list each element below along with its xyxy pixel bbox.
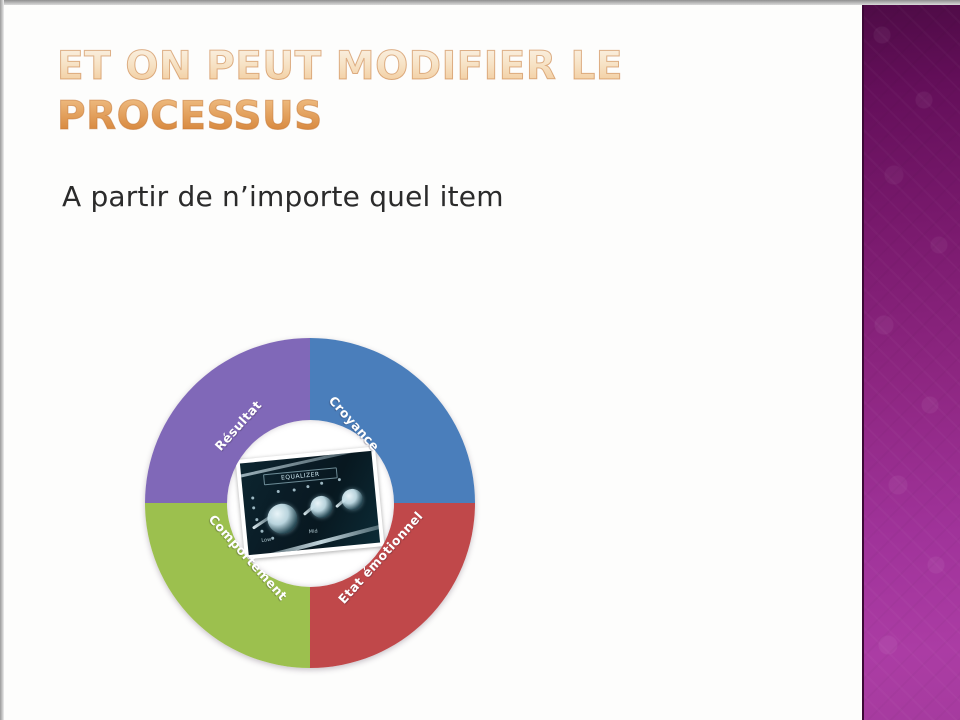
eq-led-icon bbox=[260, 530, 263, 533]
slide-subtitle: A partir de n’importe quel item bbox=[62, 180, 504, 213]
eq-knob-1-icon bbox=[266, 502, 299, 535]
eq-led-icon bbox=[320, 482, 323, 485]
cycle-diagram: EQUALIZER bbox=[145, 338, 475, 668]
eq-led-icon bbox=[338, 478, 341, 481]
equalizer-photo-inner: EQUALIZER bbox=[240, 451, 380, 555]
eq-led-icon bbox=[255, 518, 258, 521]
eq-tick-low: Low bbox=[261, 537, 271, 544]
right-decorative-band bbox=[862, 5, 960, 720]
donut-center-hole: EQUALIZER bbox=[227, 420, 394, 587]
eq-led-icon bbox=[271, 537, 274, 540]
donut-ring: EQUALIZER bbox=[145, 338, 475, 668]
eq-led-icon bbox=[252, 506, 255, 509]
eq-led-icon bbox=[306, 485, 309, 488]
eq-led-icon bbox=[251, 496, 254, 499]
eq-tick-mid: Mid bbox=[309, 528, 318, 535]
page-title-outline: Et on peut modifier le processus bbox=[57, 42, 657, 142]
eq-led-icon bbox=[277, 490, 280, 493]
eq-led-icon bbox=[293, 488, 296, 491]
presentation-slide: Et on peut modifier le processus Et on p… bbox=[0, 0, 960, 720]
equalizer-photo: EQUALIZER bbox=[236, 447, 385, 560]
